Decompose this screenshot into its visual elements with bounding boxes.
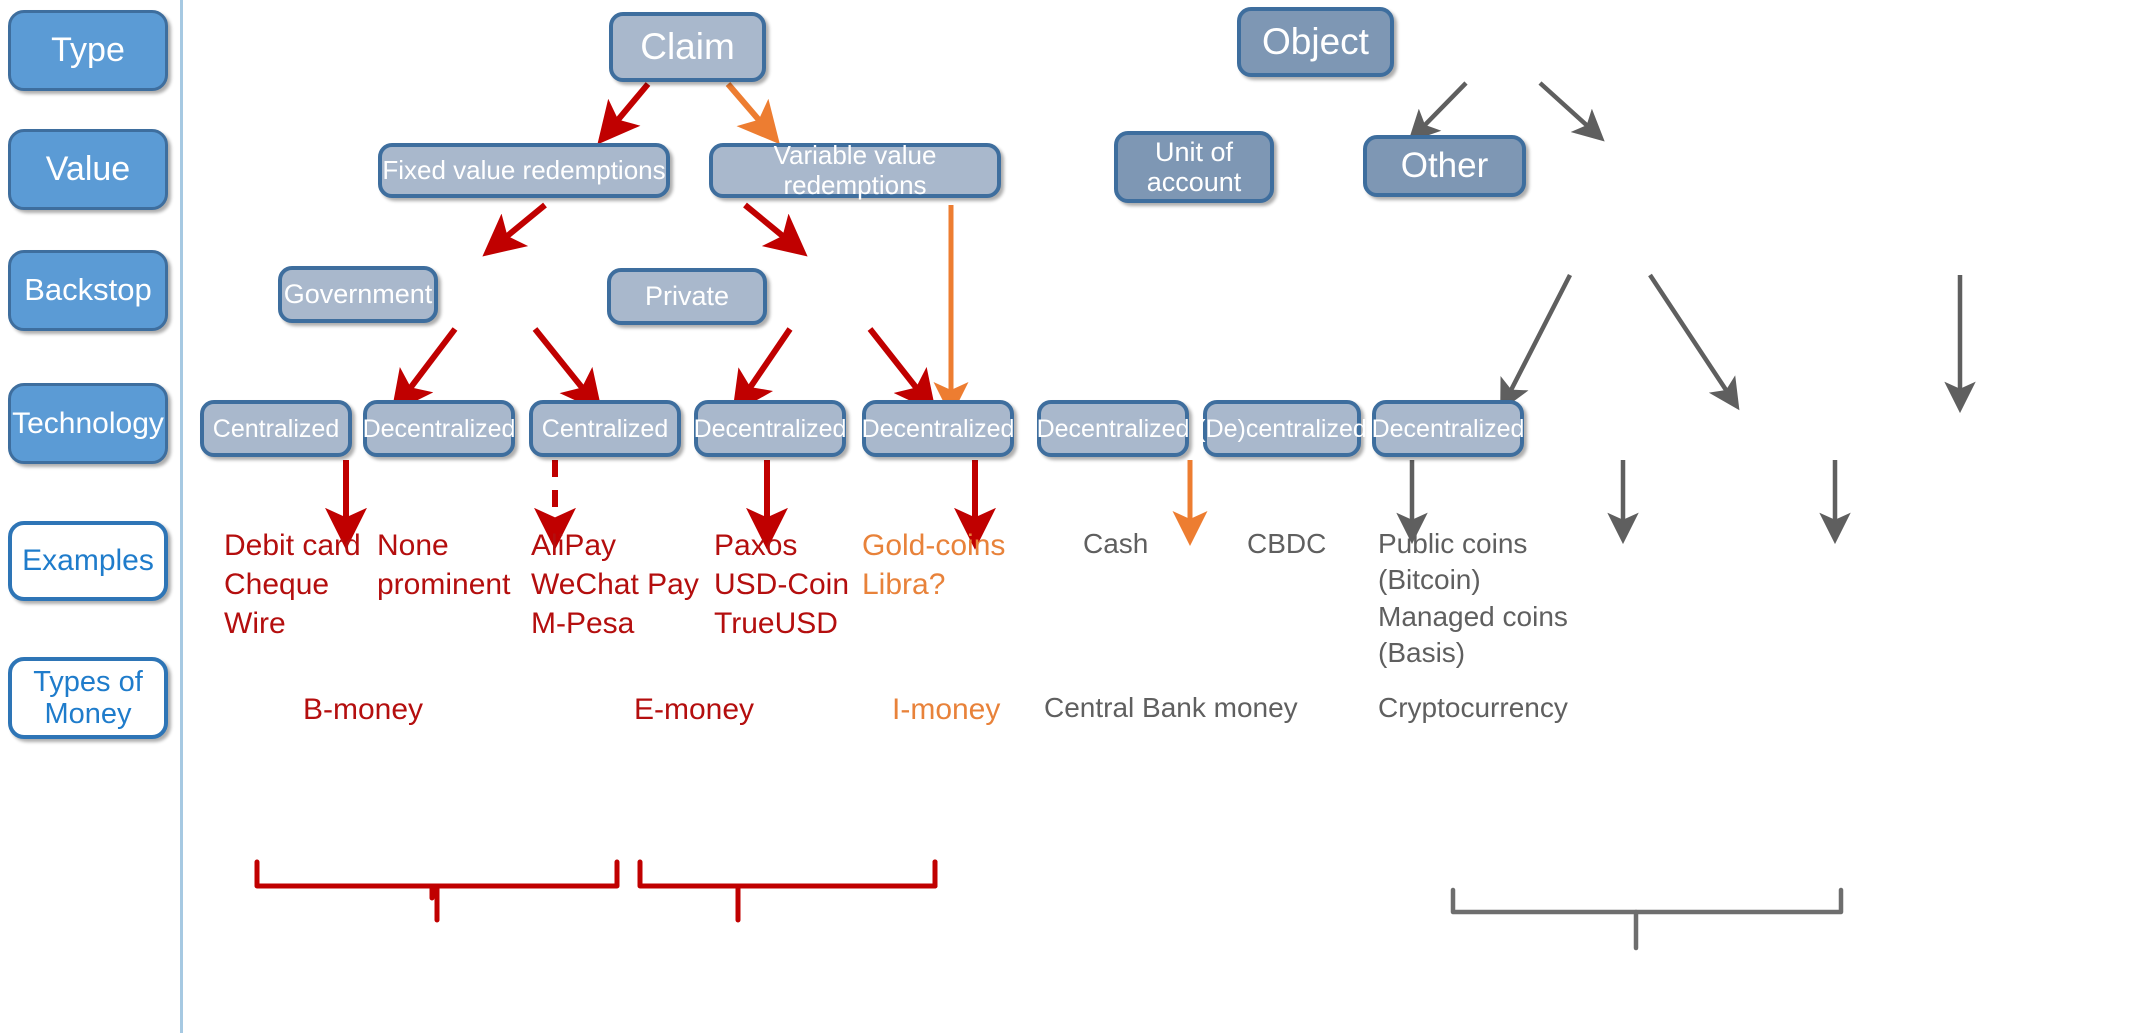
node-claim[interactable]: Claim	[609, 12, 766, 82]
rail-label: Backstop	[24, 273, 152, 308]
rail-row-technology: Technology	[8, 383, 168, 464]
rail-row-backstop: Backstop	[8, 250, 168, 331]
node-label: (De)centralized	[1197, 415, 1367, 443]
examples-group-2: None prominent	[377, 526, 510, 604]
node-label: Decentralized	[1372, 415, 1525, 443]
node-label: Decentralized	[862, 415, 1015, 443]
node-label: Claim	[640, 26, 735, 67]
rail-label: Types of Money	[33, 666, 143, 731]
node-other[interactable]: Other	[1363, 135, 1526, 197]
examples-group-7: CBDC	[1247, 526, 1326, 562]
rail-divider	[180, 0, 183, 1033]
node-technology-2[interactable]: Decentralized	[363, 400, 515, 457]
node-label: Decentralized	[1037, 415, 1190, 443]
node-fixed-value-redemptions[interactable]: Fixed value redemptions	[378, 143, 670, 198]
node-government[interactable]: Government	[278, 266, 438, 323]
rail-row-examples: Examples	[8, 521, 168, 601]
node-label: Government	[284, 279, 433, 309]
rail-row-type: Type	[8, 10, 168, 91]
node-variable-value-redemptions[interactable]: Variable value redemptions	[709, 143, 1001, 198]
node-label: Private	[645, 281, 729, 311]
diagram-canvas: Type Value Backstop Technology Examples …	[0, 0, 2145, 1033]
node-label: Fixed value redemptions	[382, 156, 665, 185]
node-technology-5[interactable]: Decentralized	[862, 400, 1014, 457]
node-technology-8[interactable]: Decentralized	[1372, 400, 1524, 457]
connector-layer	[0, 0, 2145, 1033]
node-label: Decentralized	[363, 415, 516, 443]
node-label: Other	[1401, 146, 1489, 185]
rail-row-types-of-money: Types of Money	[8, 657, 168, 739]
rail-label: Examples	[22, 544, 154, 578]
node-label: Centralized	[542, 415, 668, 443]
node-object[interactable]: Object	[1237, 7, 1394, 77]
node-label: Object	[1262, 21, 1369, 62]
node-technology-3[interactable]: Centralized	[529, 400, 681, 457]
types-of-money-i-money: I-money	[892, 690, 1000, 729]
types-of-money-b-money: B-money	[303, 690, 423, 729]
node-technology-1[interactable]: Centralized	[200, 400, 352, 457]
examples-group-5: Gold-coins Libra?	[862, 526, 1005, 604]
node-technology-7[interactable]: (De)centralized	[1203, 400, 1361, 457]
rail-label: Type	[51, 31, 125, 69]
rail-label: Value	[46, 150, 130, 188]
node-technology-6[interactable]: Decentralized	[1037, 400, 1189, 457]
rail-row-value: Value	[8, 129, 168, 210]
examples-group-6: Cash	[1083, 526, 1148, 562]
node-label: Unit of account	[1147, 137, 1242, 197]
node-private[interactable]: Private	[607, 268, 767, 325]
examples-group-3: AliPay WeChat Pay M-Pesa	[531, 526, 699, 643]
node-label: Decentralized	[694, 415, 847, 443]
node-label: Variable value redemptions	[713, 141, 997, 199]
examples-group-1: Debit card Cheque Wire	[224, 526, 361, 643]
types-of-money-central-bank-money: Central Bank money	[1044, 690, 1298, 726]
examples-group-4: Paxos USD-Coin TrueUSD	[714, 526, 849, 643]
rail-label: Technology	[12, 407, 164, 441]
node-unit-of-account[interactable]: Unit of account	[1114, 131, 1274, 203]
examples-group-8: Public coins (Bitcoin) Managed coins (Ba…	[1378, 526, 1568, 672]
types-of-money-e-money: E-money	[634, 690, 754, 729]
node-technology-4[interactable]: Decentralized	[694, 400, 846, 457]
node-label: Centralized	[213, 415, 339, 443]
types-of-money-cryptocurrency: Cryptocurrency	[1378, 690, 1568, 726]
